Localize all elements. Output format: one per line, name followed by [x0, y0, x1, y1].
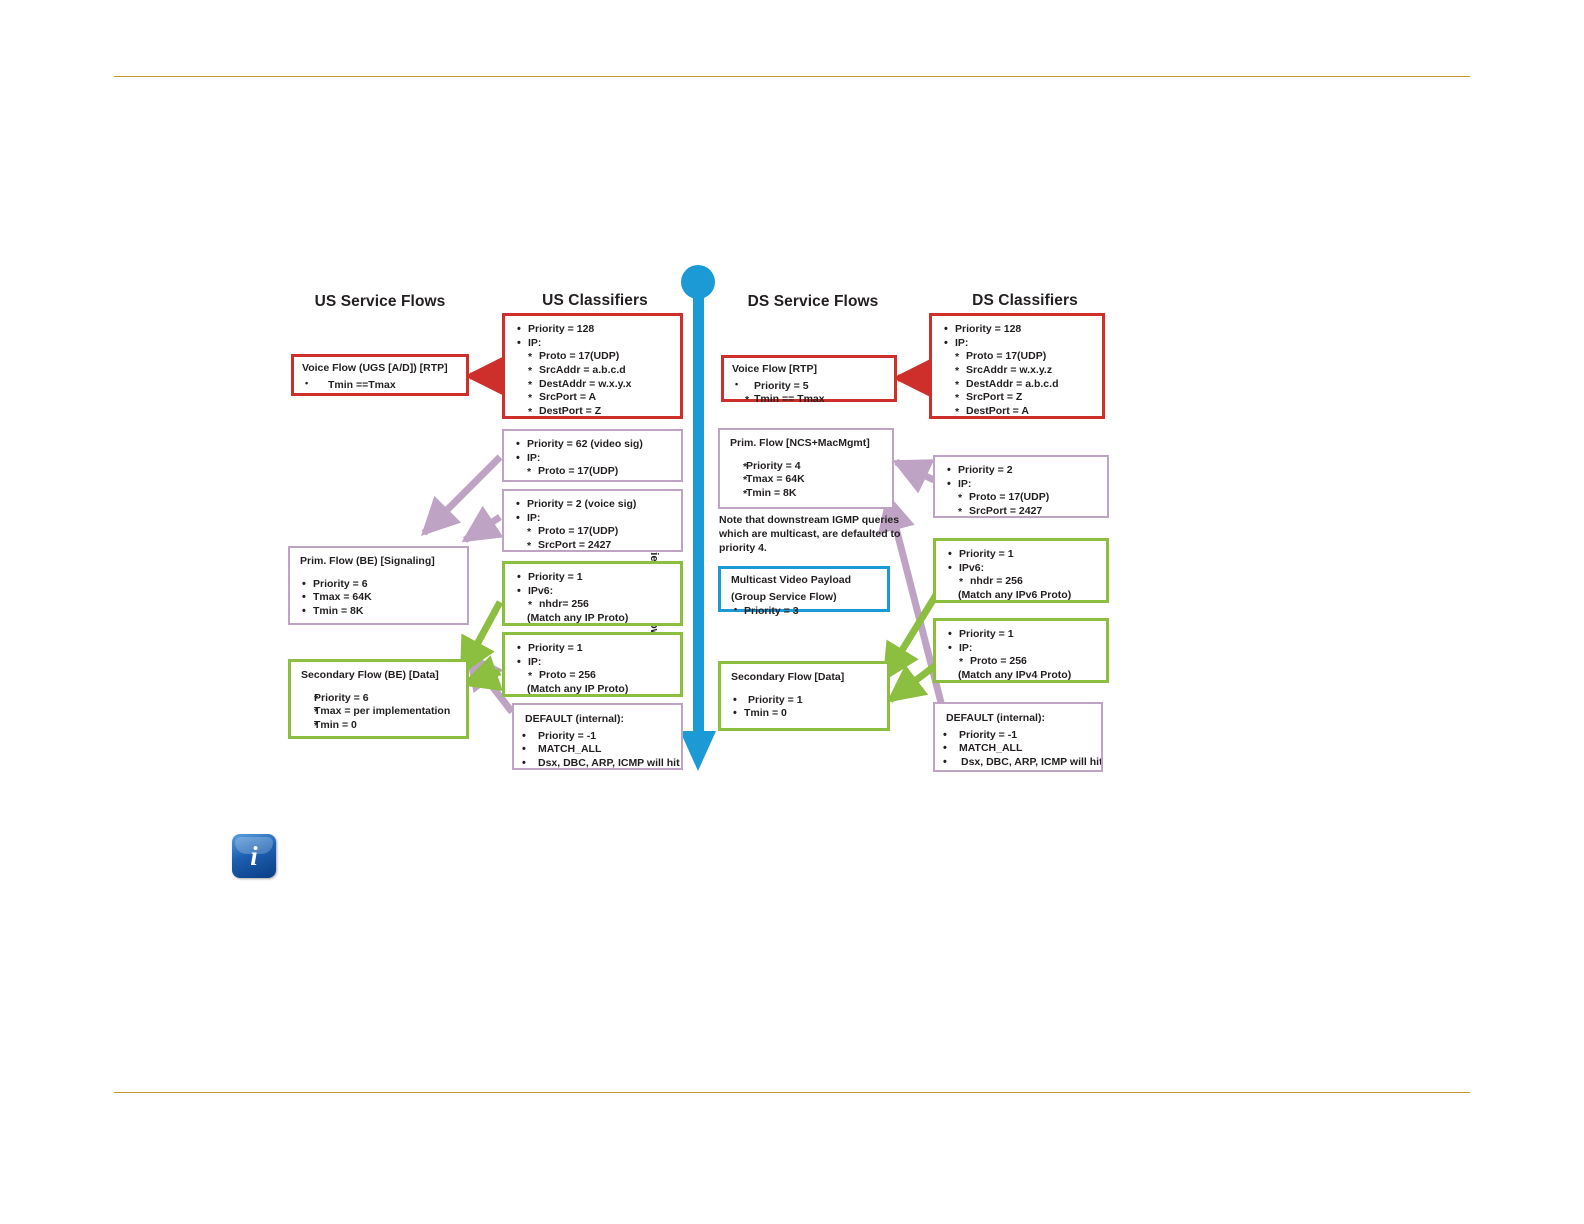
us-classifier-3-sub-2: SrcPort = 2427 [514, 539, 672, 553]
us-classifier-default-line-2: MATCH_ALL [520, 743, 677, 757]
us-voice-flow-title: Voice Flow (UGS [A/D]) [RTP] [302, 362, 460, 376]
column-title-ds-service-flows: DS Service Flows [728, 293, 898, 311]
us-classifier-1-sub-2: SrcAddr = a.b.c.d [515, 364, 671, 378]
ds-classifier-2-line-1: Priority = 2 [945, 464, 1098, 478]
us-classifier-1-line-2: IP: [515, 337, 671, 351]
ds-classifier-1-sub-5: DestPort = A [942, 405, 1093, 419]
ds-classifier-2-line-2: IP: [945, 478, 1098, 492]
column-title-us-classifiers: US Classifiers [515, 292, 675, 310]
us-classifier-1-sub-5: DestPort = Z [515, 405, 671, 419]
ds-secondary-flow-line-1: Priority = 1 [731, 694, 878, 708]
ds-prim-flow-title: Prim. Flow [NCS+MacMgmt] [730, 437, 883, 451]
us-classifier-4-sub-1: nhdr= 256 [515, 598, 671, 612]
ds-secondary-flow-box: Secondary Flow [Data] Priority = 1 Tmin … [718, 661, 890, 731]
us-classifier-5-line-2: IP: [515, 656, 671, 670]
ds-classifier-1-box: Priority = 128 IP: Proto = 17(UDP) SrcAd… [929, 313, 1105, 419]
us-classifier-2-box: Priority = 62 (video sig) IP: Proto = 17… [502, 429, 683, 482]
us-classifier-3-line-2: IP: [514, 512, 672, 526]
ds-classifier-default-line-1: Priority = -1 [941, 729, 1097, 743]
ds-classifier-default-line-2: MATCH_ALL [941, 742, 1097, 756]
us-classifier-2-sub-1: Proto = 17(UDP) [514, 465, 672, 479]
ds-voice-flow-box: Voice Flow [RTP] Priority = 5 Tmin == Tm… [721, 355, 897, 402]
us-secondary-flow-box: Secondary Flow (BE) [Data] Priority = 6 … [288, 659, 469, 739]
us-classifier-3-box: Priority = 2 (voice sig) IP: Proto = 17(… [502, 489, 683, 552]
us-classifier-4-line-3: (Match any IP Proto) [515, 612, 671, 626]
ds-classifier-1-sub-4: SrcPort = Z [942, 391, 1093, 405]
ds-prim-flow-line-3: Tmin = 8K [730, 487, 883, 501]
info-icon-glyph: i [232, 834, 276, 878]
us-secondary-flow-title: Secondary Flow (BE) [Data] [301, 669, 457, 683]
ds-classifier-3-line-3: (Match any IPv6 Proto) [946, 589, 1097, 603]
us-classifier-default-line-1: Priority = -1 [520, 730, 677, 744]
ds-voice-flow-title: Voice Flow [RTP] [732, 363, 888, 377]
us-classifier-3-line-1: Priority = 2 (voice sig) [514, 498, 672, 512]
us-prim-flow-title: Prim. Flow (BE) [Signaling] [300, 555, 458, 569]
us-classifier-default-line-3: Dsx, DBC, ARP, ICMP will hit this [520, 757, 677, 770]
us-classifier-5-sub-1: Proto = 256 [515, 669, 671, 683]
us-prim-flow-line-1: Priority = 6 [300, 578, 458, 592]
ds-classifier-4-box: Priority = 1 IP: Proto = 256 (Match any … [933, 618, 1109, 683]
us-classifier-5-line-3: (Match any IP Proto) [515, 683, 671, 697]
us-classifier-2-line-1: Priority = 62 (video sig) [514, 438, 672, 452]
us-voice-flow-line-1: Tmin ==Tmax [302, 379, 460, 393]
us-classifier-4-box: Priority = 1 IPv6: nhdr= 256 (Match any … [502, 561, 683, 626]
ds-prim-flow-line-1: Priority = 4 [730, 460, 883, 474]
ds-classifier-2-box: Priority = 2 IP: Proto = 17(UDP) SrcPort… [933, 455, 1109, 518]
priority-axis-arrowhead [680, 731, 716, 771]
us-classifier-1-sub-3: DestAddr = w.x.y.x [515, 378, 671, 392]
ds-classifier-1-sub-1: Proto = 17(UDP) [942, 350, 1093, 364]
us-classifier-1-box: Priority = 128 IP: Proto = 17(UDP) SrcAd… [502, 313, 683, 419]
priority-axis-shaft [693, 279, 704, 734]
ds-igmp-note: Note that downstream IGMP queries which … [719, 514, 901, 556]
ds-prim-flow-box: Prim. Flow [NCS+MacMgmt] Priority = 4 Tm… [718, 428, 894, 509]
us-classifier-4-line-1: Priority = 1 [515, 571, 671, 585]
us-prim-flow-line-2: Tmax = 64K [300, 591, 458, 605]
ds-classifier-3-line-2: IPv6: [946, 562, 1097, 576]
us-classifier-default-title: DEFAULT (internal): [520, 713, 677, 727]
us-classifier-2-line-2: IP: [514, 452, 672, 466]
ds-classifier-2-sub-1: Proto = 17(UDP) [945, 491, 1098, 505]
info-icon: i [232, 834, 276, 878]
ds-classifier-3-line-1: Priority = 1 [946, 548, 1097, 562]
qos-service-flow-diagram: US Service Flows US Classifiers DS Servi… [0, 0, 1584, 1224]
us-classifier-1-sub-1: Proto = 17(UDP) [515, 350, 671, 364]
ds-classifier-1-line-2: IP: [942, 337, 1093, 351]
ds-classifier-3-sub-1: nhdr = 256 [946, 575, 1097, 589]
us-classifier-5-box: Priority = 1 IP: Proto = 256 (Match any … [502, 632, 683, 697]
ds-classifier-default-line-3: Dsx, DBC, ARP, ICMP will hit this [941, 756, 1097, 770]
ds-multicast-video-title-2: (Group Service Flow) [731, 591, 881, 605]
ds-multicast-video-box: Multicast Video Payload (Group Service F… [718, 566, 890, 612]
us-classifier-default-box: DEFAULT (internal): Priority = -1 MATCH_… [512, 703, 683, 770]
ds-secondary-flow-line-2: Tmin = 0 [731, 707, 878, 721]
ds-classifier-4-line-2: IP: [946, 642, 1097, 656]
us-classifier-1-sub-4: SrcPort = A [515, 391, 671, 405]
ds-multicast-video-title-1: Multicast Video Payload [731, 574, 881, 588]
ds-classifier-1-sub-2: SrcAddr = w.x.y.z [942, 364, 1093, 378]
ds-classifier-default-title: DEFAULT (internal): [941, 712, 1097, 726]
ds-classifier-1-sub-3: DestAddr = a.b.c.d [942, 378, 1093, 392]
us-classifier-3-sub-1: Proto = 17(UDP) [514, 525, 672, 539]
ds-classifier-2-sub-2: SrcPort = 2427 [945, 505, 1098, 519]
us-classifier-4-line-2: IPv6: [515, 585, 671, 599]
us-secondary-flow-line-1: Priority = 6 [301, 692, 457, 706]
ds-classifier-1-line-1: Priority = 128 [942, 323, 1093, 337]
column-title-us-service-flows: US Service Flows [300, 293, 460, 311]
us-classifier-1-line-1: Priority = 128 [515, 323, 671, 337]
ds-voice-flow-line-1: Priority = 5 [732, 380, 888, 394]
us-voice-flow-box: Voice Flow (UGS [A/D]) [RTP] Tmin ==Tmax [291, 354, 469, 396]
ds-classifier-4-line-1: Priority = 1 [946, 628, 1097, 642]
column-title-ds-classifiers: DS Classifiers [940, 292, 1110, 310]
ds-classifier-4-line-3: (Match any IPv4 Proto) [946, 669, 1097, 683]
us-secondary-flow-line-3: Tmin = 0 [301, 719, 457, 733]
ds-classifier-default-box: DEFAULT (internal): Priority = -1 MATCH_… [933, 702, 1103, 772]
ds-secondary-flow-title: Secondary Flow [Data] [731, 671, 878, 685]
us-secondary-flow-line-2: Tmax = per implementation [301, 705, 457, 719]
us-prim-flow-box: Prim. Flow (BE) [Signaling] Priority = 6… [288, 546, 469, 625]
ds-prim-flow-line-2: Tmax = 64K [730, 473, 883, 487]
ds-classifier-3-box: Priority = 1 IPv6: nhdr = 256 (Match any… [933, 538, 1109, 603]
ds-voice-flow-line-2: Tmin == Tmax [732, 393, 888, 407]
ds-classifier-4-sub-1: Proto = 256 [946, 655, 1097, 669]
us-classifier-5-line-1: Priority = 1 [515, 642, 671, 656]
ds-multicast-video-line-1: Priority = 3 [731, 605, 881, 619]
us-prim-flow-line-3: Tmin = 8K [300, 605, 458, 619]
